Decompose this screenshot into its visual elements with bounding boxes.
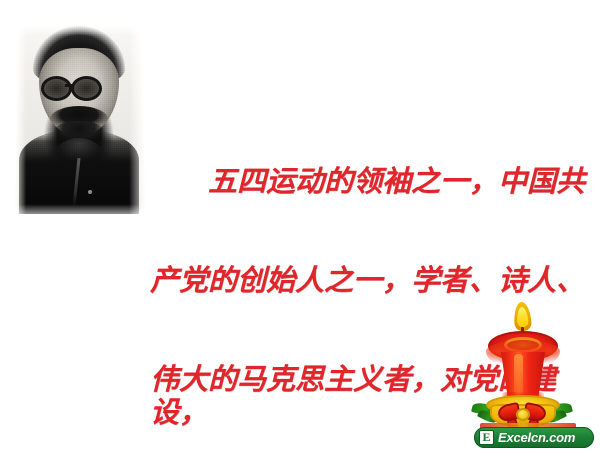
text-line: 产党的创始人之一，学者、诗人、 xyxy=(150,265,592,298)
portrait-glasses-left xyxy=(41,76,72,101)
portrait-glasses-right xyxy=(71,76,102,101)
candle-illustration xyxy=(462,300,582,428)
portrait-photo xyxy=(13,18,145,214)
watermark-logo[interactable]: E Excelcn.com xyxy=(474,427,594,448)
portrait-glasses-bridge xyxy=(65,84,74,87)
presentation-slide: 五四运动的领袖之一，中国共 产党的创始人之一，学者、诗人、 伟大的马克思主义者，… xyxy=(0,0,600,450)
excelcn-e-icon: E xyxy=(479,430,494,445)
candle-body-highlight xyxy=(514,354,523,396)
watermark-text: Excelcn.com xyxy=(498,430,575,445)
ribbon-bow-knot xyxy=(516,408,530,421)
text-line: 五四运动的领袖之一，中国共 xyxy=(150,166,592,199)
portrait-button xyxy=(88,190,92,194)
